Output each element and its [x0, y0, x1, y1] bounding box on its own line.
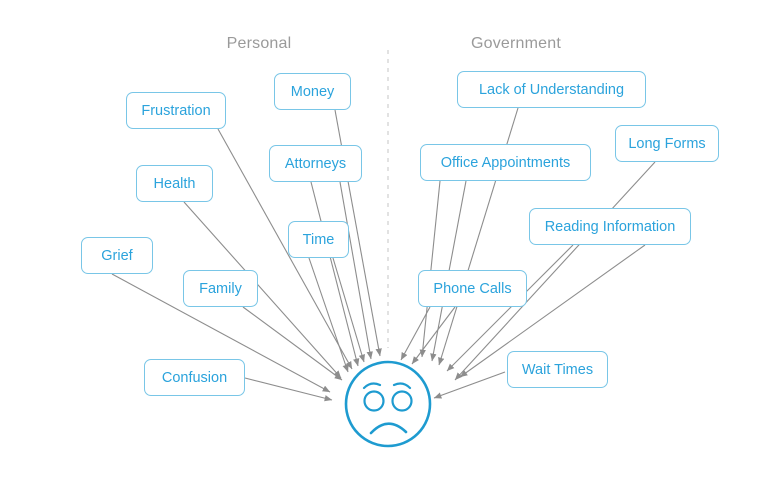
column-header-personal: Personal	[227, 35, 292, 53]
node-office-appointments[interactable]: Office Appointments	[420, 144, 591, 181]
node-frustration[interactable]: Frustration	[126, 92, 226, 129]
diagram-canvas: PersonalGovernment FrustrationHealthGrie…	[0, 0, 760, 484]
node-wait-times[interactable]: Wait Times	[507, 351, 608, 388]
face-outline	[346, 362, 430, 446]
arrow-from-wait-times	[434, 372, 505, 398]
node-long-forms[interactable]: Long Forms	[615, 125, 719, 162]
arrow-from-confusion	[245, 378, 332, 400]
frustrated-face	[333, 349, 443, 459]
node-money[interactable]: Money	[274, 73, 351, 110]
node-attorneys[interactable]: Attorneys	[269, 145, 362, 182]
node-lack-of-understanding[interactable]: Lack of Understanding	[457, 71, 646, 108]
node-reading-information[interactable]: Reading Information	[529, 208, 691, 245]
arrow-from-family	[243, 307, 342, 380]
node-grief[interactable]: Grief	[81, 237, 153, 274]
node-family[interactable]: Family	[183, 270, 258, 307]
node-time[interactable]: Time	[288, 221, 349, 258]
arrow-from-time-2	[333, 258, 364, 362]
column-header-government: Government	[471, 35, 561, 53]
node-phone-calls[interactable]: Phone Calls	[418, 270, 527, 307]
node-confusion[interactable]: Confusion	[144, 359, 245, 396]
node-health[interactable]: Health	[136, 165, 213, 202]
